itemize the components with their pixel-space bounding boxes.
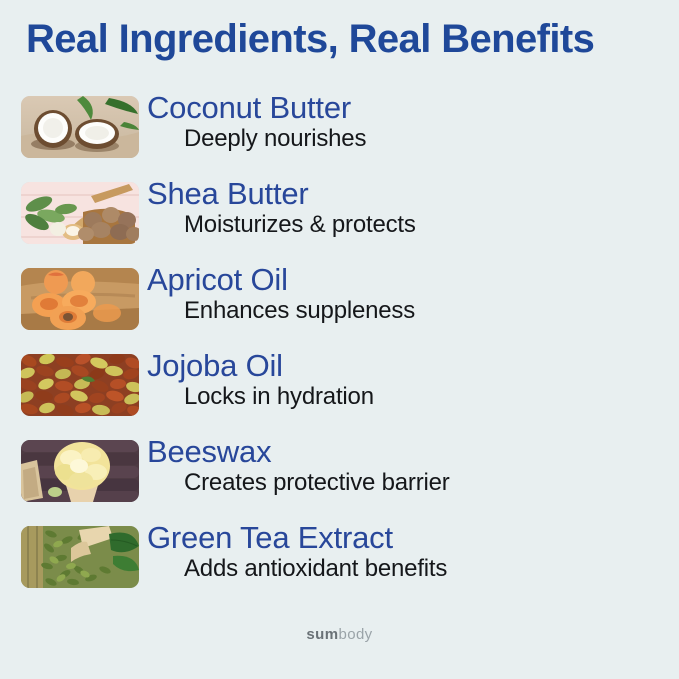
jojoba-seeds-thumbnail-image	[21, 354, 139, 416]
ingredient-description: Creates protective barrier	[184, 470, 671, 497]
ingredient-name: Coconut Butter	[147, 90, 671, 125]
ingredient-name: Green Tea Extract	[147, 520, 671, 555]
brand-name-part-one: sum	[306, 626, 338, 643]
ingredient-name: Shea Butter	[147, 176, 671, 211]
list-item: Coconut Butter Deeply nourishes	[0, 94, 679, 180]
page-title: Real Ingredients, Real Benefits	[26, 18, 666, 60]
list-item: Shea Butter Moisturizes & protects	[0, 180, 679, 266]
brand-logo: sumbody	[0, 626, 679, 643]
ingredient-text-block: Green Tea Extract Adds antioxidant benef…	[147, 520, 671, 583]
ingredient-text-block: Beeswax Creates protective barrier	[147, 434, 671, 497]
ingredient-name: Apricot Oil	[147, 262, 671, 297]
ingredient-description: Adds antioxidant benefits	[184, 556, 671, 583]
ingredient-text-block: Jojoba Oil Locks in hydration	[147, 348, 671, 411]
list-item: Apricot Oil Enhances suppleness	[0, 266, 679, 352]
ingredient-description: Moisturizes & protects	[184, 212, 671, 239]
coconut-thumbnail-image	[21, 96, 139, 158]
ingredient-text-block: Coconut Butter Deeply nourishes	[147, 90, 671, 153]
brand-name-part-two: body	[338, 626, 372, 643]
ingredients-infographic: Real Ingredients, Real Benefits	[0, 0, 679, 679]
ingredient-name: Beeswax	[147, 434, 671, 469]
green-tea-thumbnail-image	[21, 526, 139, 588]
list-item: Jojoba Oil Locks in hydration	[0, 352, 679, 438]
ingredient-text-block: Shea Butter Moisturizes & protects	[147, 176, 671, 239]
ingredient-text-block: Apricot Oil Enhances suppleness	[147, 262, 671, 325]
ingredient-description: Deeply nourishes	[184, 126, 671, 153]
beeswax-thumbnail-image	[21, 440, 139, 502]
apricot-thumbnail-image	[21, 268, 139, 330]
ingredient-description: Locks in hydration	[184, 384, 671, 411]
ingredient-description: Enhances suppleness	[184, 298, 671, 325]
shea-nuts-thumbnail-image	[21, 182, 139, 244]
list-item: Beeswax Creates protective barrier	[0, 438, 679, 524]
list-item: Green Tea Extract Adds antioxidant benef…	[0, 524, 679, 610]
ingredient-name: Jojoba Oil	[147, 348, 671, 383]
ingredient-list: Coconut Butter Deeply nourishes	[0, 94, 679, 610]
